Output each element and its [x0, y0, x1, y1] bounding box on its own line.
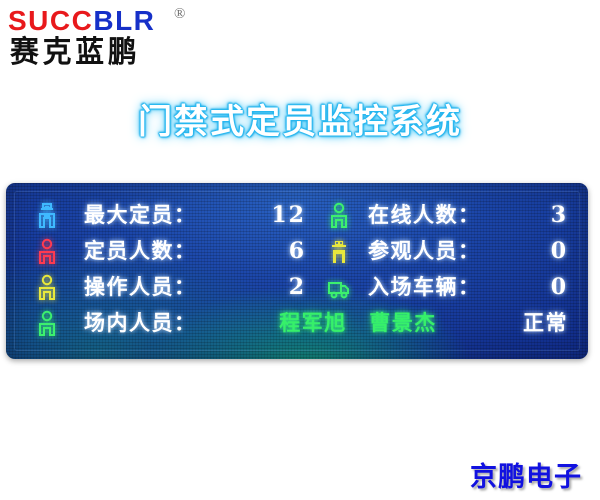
led-row: 最大定员： 12 在线人数： 3: [22, 199, 572, 232]
led-value-online-count: 3: [522, 199, 568, 232]
led-label-max-capacity: 最大定员：: [84, 199, 264, 232]
truck-green-icon: [326, 271, 354, 304]
logo-latin-red: SUCC: [8, 5, 93, 36]
status-badge: 正常: [506, 307, 568, 340]
led-display-panel: 最大定员： 12 在线人数： 3 定员人数： 6: [6, 183, 588, 359]
person-red-icon: [34, 235, 62, 268]
led-value-max-capacity: 12: [250, 199, 306, 232]
registered-trademark-icon: ®: [174, 6, 185, 23]
person-yellow-icon: [34, 271, 62, 304]
led-value-visitor-count: 0: [522, 235, 568, 268]
logo-chinese-wordmark: 赛克蓝鹏: [10, 36, 141, 70]
person-hat-cyan-icon: [34, 199, 62, 232]
led-label-vehicle-count: 入场车辆：: [368, 271, 548, 304]
led-label-assigned-count: 定员人数：: [84, 235, 264, 268]
led-row: 操作人员： 2 入场车辆： 0: [22, 271, 572, 304]
person-green-icon: [34, 307, 62, 340]
led-value-onsite-names: 程军旭 曹景杰: [218, 307, 498, 340]
led-row-roster: 场内人员： 程军旭 曹景杰 正常: [22, 307, 572, 340]
led-value-assigned-count: 6: [250, 235, 306, 268]
page-title: 门禁式定员监控系统: [0, 94, 600, 143]
footer-brand: 京鹏电子: [470, 455, 582, 494]
logo-latin-wordmark: SUCCBLR: [8, 6, 155, 36]
led-label-online-count: 在线人数：: [368, 199, 548, 232]
person-green-icon: [326, 199, 354, 232]
led-label-visitor-count: 参观人员：: [368, 235, 548, 268]
person-hat-yellow-icon: [326, 235, 354, 268]
led-value-vehicle-count: 0: [522, 271, 568, 304]
logo-latin-blue: BLR: [93, 5, 155, 36]
led-label-operator-count: 操作人员：: [84, 271, 264, 304]
led-value-operator-count: 2: [250, 271, 306, 304]
led-row: 定员人数： 6 参观人员： 0: [22, 235, 572, 268]
led-content-grid: 最大定员： 12 在线人数： 3 定员人数： 6: [22, 197, 572, 345]
company-logo: SUCCBLR ® 赛克蓝鹏: [8, 4, 238, 74]
